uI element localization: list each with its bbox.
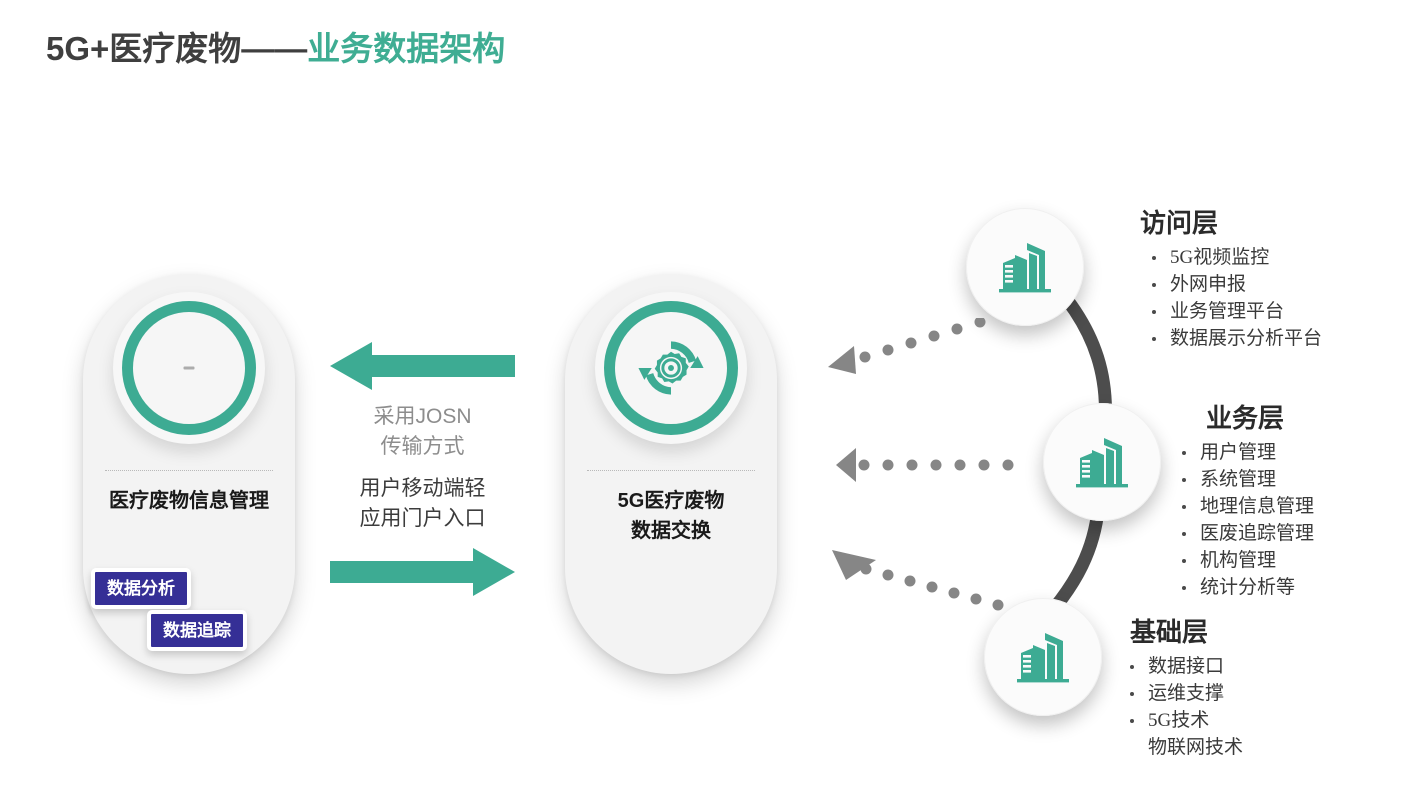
- list-item: 地理信息管理: [1170, 493, 1314, 520]
- list-item: 数据展示分析平台: [1140, 325, 1322, 352]
- dotted-arrow-business: [836, 440, 1016, 490]
- ring-center-mark: [184, 367, 195, 370]
- buildings-icon: [1070, 430, 1134, 494]
- dotted-arrow-access: [818, 318, 988, 388]
- badge-data-tracking[interactable]: 数据追踪: [147, 610, 247, 651]
- list-item: 业务管理平台: [1140, 298, 1322, 325]
- page-title-dark: 5G+医疗废物——: [46, 30, 307, 67]
- dotted-arrow-foundation: [808, 538, 1008, 618]
- label-json-transfer: 采用JOSN 传输方式: [330, 402, 515, 462]
- portal-line-2: 应用门户入口: [330, 504, 515, 534]
- json-line-1: 采用JOSN: [330, 402, 515, 432]
- buildings-icon: [1011, 625, 1075, 689]
- list-item: 医废追踪管理: [1170, 520, 1314, 547]
- list-item: 5G视频监控: [1140, 244, 1322, 271]
- badge-data-analysis[interactable]: 数据分析: [91, 568, 191, 609]
- layer-list-foundation: 数据接口 运维支撑 5G技术 物联网技术: [1118, 653, 1243, 761]
- list-item: 物联网技术: [1118, 734, 1243, 761]
- list-item: 数据接口: [1118, 653, 1243, 680]
- card-medical-waste-info[interactable]: 医疗废物信息管理 数据分析 数据追踪: [83, 274, 295, 674]
- mid-card-title: 5G医疗废物 数据交换: [565, 486, 777, 546]
- portal-line-1: 用户移动端轻: [330, 474, 515, 504]
- list-item: 系统管理: [1170, 466, 1314, 493]
- mid-card-ring-wrap: [595, 292, 747, 444]
- right-arrow-icon: [330, 546, 515, 598]
- list-item: 用户管理: [1170, 439, 1314, 466]
- layer-list-access: 5G视频监控 外网申报 业务管理平台 数据展示分析平台: [1140, 244, 1322, 352]
- layer-title-business: 业务层: [1206, 398, 1314, 435]
- layer-title-access: 访问层: [1140, 203, 1322, 240]
- page-title-accent: 业务数据架构: [307, 30, 505, 67]
- gear-recycle-icon: [634, 331, 708, 405]
- card-divider: [105, 470, 273, 471]
- layer-group-business: 业务层 用户管理 系统管理 地理信息管理 医废追踪管理 机构管理 统计分析等: [1170, 398, 1314, 601]
- mid-card-title-line2: 数据交换: [565, 516, 777, 546]
- list-item: 外网申报: [1140, 271, 1322, 298]
- json-line-2: 传输方式: [330, 432, 515, 462]
- empty-ring-icon: [122, 301, 256, 435]
- page-title: 5G+医疗废物——业务数据架构: [46, 22, 505, 70]
- card-5g-data-exchange[interactable]: 5G医疗废物 数据交换: [565, 274, 777, 674]
- left-arrow-icon: [330, 340, 515, 392]
- label-mobile-portal: 用户移动端轻 应用门户入口: [330, 474, 515, 534]
- layer-title-foundation: 基础层: [1130, 612, 1243, 649]
- node-access-layer[interactable]: [966, 208, 1084, 326]
- mid-card-divider: [587, 470, 755, 471]
- mid-card-title-line1: 5G医疗废物: [565, 486, 777, 516]
- node-business-layer[interactable]: [1043, 403, 1161, 521]
- layer-list-business: 用户管理 系统管理 地理信息管理 医废追踪管理 机构管理 统计分析等: [1170, 439, 1314, 601]
- list-item: 运维支撑: [1118, 680, 1243, 707]
- list-item: 5G技术: [1118, 707, 1243, 734]
- slide-canvas: 5G+医疗废物——业务数据架构 医疗废物信息管理 数据分析 数据追踪: [0, 0, 1414, 794]
- layer-group-foundation: 基础层 数据接口 运维支撑 5G技术 物联网技术: [1118, 612, 1243, 761]
- list-item: 统计分析等: [1170, 574, 1314, 601]
- buildings-icon: [993, 235, 1057, 299]
- layer-group-access: 访问层 5G视频监控 外网申报 业务管理平台 数据展示分析平台: [1140, 203, 1322, 352]
- list-item: 机构管理: [1170, 547, 1314, 574]
- center-flow-block: 采用JOSN 传输方式 用户移动端轻 应用门户入口: [330, 340, 530, 600]
- left-card-title: 医疗废物信息管理: [83, 486, 295, 516]
- left-card-ring-wrap: [113, 292, 265, 444]
